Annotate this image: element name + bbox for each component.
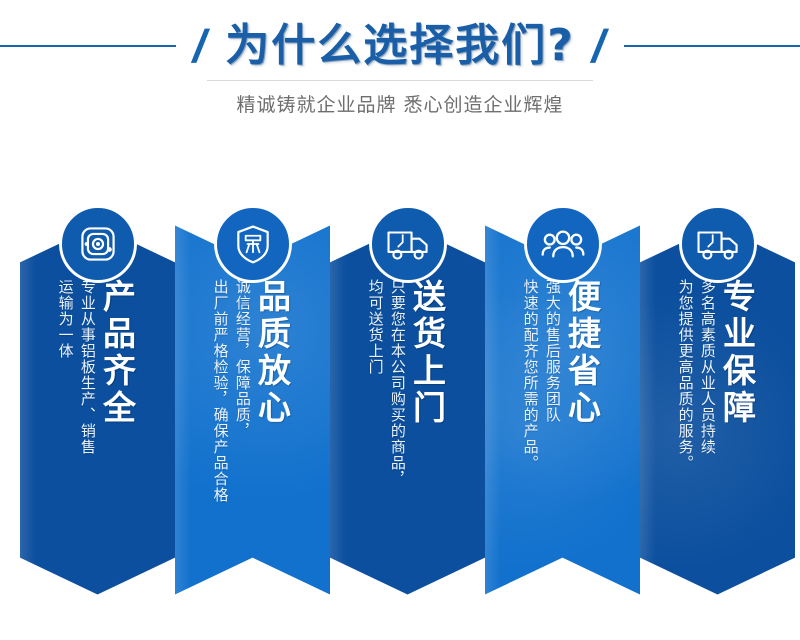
panel-text-block: 专业保障 多名高素质从业人员持续 为您提供更高品质的服务。 (640, 279, 795, 609)
subtitle-divider (207, 80, 593, 81)
panel-text-block: 送货上门 只要您在本公司购买的商品， 均可送货上门 (330, 279, 485, 609)
panel-title: 送货上门 (409, 279, 444, 427)
panel-title: 产品齐全 (99, 279, 134, 427)
panel-desc-line: 诚信经营，保障品质， (233, 279, 252, 503)
panel-text-block: 品质放心 诚信经营，保障品质， 出厂前严格检验，确保产品合格 (175, 279, 330, 609)
feature-panel-4[interactable]: 便捷省心 强大的售后服务团队 快速的配齐您所需的产品。 (485, 205, 640, 615)
panel-desc-line: 为您提供更高品质的服务。 (675, 279, 694, 471)
panel-title: 品质放心 (254, 279, 289, 427)
feature-panel-1[interactable]: 产品齐全 专业从事铝板生产、销售 运输为一体 (20, 205, 175, 615)
slash-left-icon: / (190, 23, 213, 69)
banner-header: / 为什么选择我们? / 精诚铸就企业品牌 悉心创造企业辉煌 (0, 0, 800, 130)
panel-text-block: 便捷省心 强大的售后服务团队 快速的配齐您所需的产品。 (485, 279, 640, 609)
title-row: / 为什么选择我们? / (0, 18, 800, 74)
panel-desc-line: 多名高素质从业人员持续 (698, 279, 717, 471)
panel-desc-line: 均可送货上门 (365, 279, 384, 487)
header-rule-left (0, 45, 176, 47)
delivery-truck-icon (679, 205, 757, 283)
page-title: 为什么选择我们? (225, 24, 575, 68)
feature-panel-3[interactable]: 送货上门 只要您在本公司购买的商品， 均可送货上门 (330, 205, 485, 615)
feature-panel-ribbon: 产品齐全 专业从事铝板生产、销售 运输为一体 (0, 150, 800, 620)
panel-desc-group: 强大的售后服务团队 快速的配齐您所需的产品。 (520, 279, 561, 471)
feature-panel-5[interactable]: 专业保障 多名高素质从业人员持续 为您提供更高品质的服务。 (640, 205, 795, 615)
panel-desc-group: 多名高素质从业人员持续 为您提供更高品质的服务。 (675, 279, 716, 471)
feature-panel-2[interactable]: 品质放心 诚信经营，保障品质， 出厂前严格检验，确保产品合格 (175, 205, 330, 615)
slash-right-icon: / (588, 23, 611, 69)
people-group-icon (524, 205, 602, 283)
panel-title: 便捷省心 (564, 279, 599, 427)
panel-desc-group: 只要您在本公司购买的商品， 均可送货上门 (365, 279, 406, 487)
product-box-icon (59, 205, 137, 283)
shield-quality-icon (214, 205, 292, 283)
panel-desc-group: 诚信经营，保障品质， 出厂前严格检验，确保产品合格 (210, 279, 251, 503)
panel-text-block: 产品齐全 专业从事铝板生产、销售 运输为一体 (20, 279, 175, 609)
panel-desc-line: 专业从事铝板生产、销售 (78, 279, 97, 455)
panel-desc-line: 强大的售后服务团队 (543, 279, 562, 471)
page-subtitle: 精诚铸就企业品牌 悉心创造企业辉煌 (236, 90, 563, 117)
panel-desc-line: 快速的配齐您所需的产品。 (520, 279, 539, 471)
panel-desc-group: 专业从事铝板生产、销售 运输为一体 (55, 279, 96, 455)
panel-desc-line: 运输为一体 (55, 279, 74, 455)
panel-desc-line: 出厂前严格检验，确保产品合格 (210, 279, 229, 503)
why-choose-us-banner: / 为什么选择我们? / 精诚铸就企业品牌 悉心创造企业辉煌 产品齐全 专业从事… (0, 0, 800, 640)
panel-desc-line: 只要您在本公司购买的商品， (388, 279, 407, 487)
header-rule-right (624, 45, 800, 47)
subtitle-wrap: 精诚铸就企业品牌 悉心创造企业辉煌 (0, 80, 800, 117)
panel-title: 专业保障 (719, 279, 754, 427)
delivery-truck-icon (369, 205, 447, 283)
